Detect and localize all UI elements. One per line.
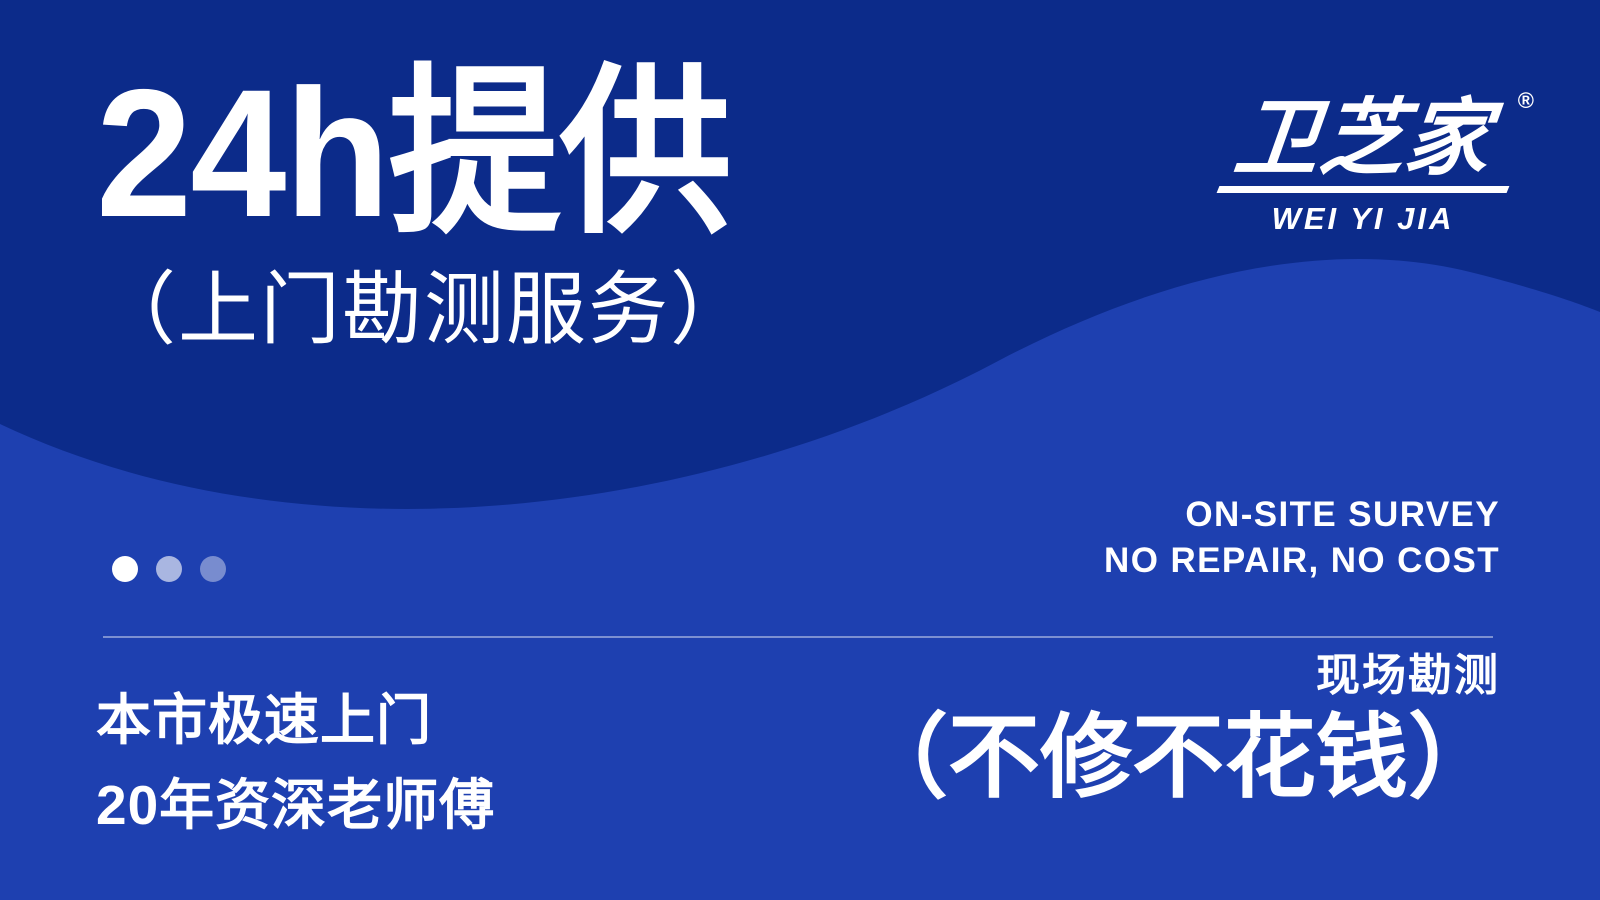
logo-mark: 卫芝家 ® <box>1218 96 1508 193</box>
english-tagline: ON-SITE SURVEY NO REPAIR, NO COST <box>1104 492 1500 584</box>
registered-trademark-icon: ® <box>1518 90 1534 112</box>
logo-pinyin: WEI YI JIA <box>1218 203 1508 234</box>
logo-underline-rule <box>1217 186 1510 193</box>
bottom-right-copy: 现场勘测 （不修不花钱） <box>856 652 1500 807</box>
brand-logo: 卫芝家 ® WEI YI JIA <box>1218 96 1508 234</box>
promo-banner: 24h提供 （上门勘测服务） 卫芝家 ® WEI YI JIA ON-SITE … <box>0 0 1600 900</box>
bottom-left-copy: 本市极速上门 20年资深老师傅 <box>96 678 495 849</box>
headline-block: 24h提供 （上门勘测服务） <box>96 62 764 352</box>
tagline-line-2: NO REPAIR, NO COST <box>1104 538 1500 584</box>
logo-chinese-name: 卫芝家 <box>1214 96 1513 180</box>
bottom-left-line-2: 20年资深老师傅 <box>96 763 495 848</box>
decorative-dots <box>112 556 226 582</box>
tagline-line-1: ON-SITE SURVEY <box>1104 492 1500 538</box>
bottom-right-headline: （不修不花钱） <box>856 710 1500 807</box>
bottom-left-line-1: 本市极速上门 <box>96 678 495 763</box>
bottom-right-label: 现场勘测 <box>856 652 1500 700</box>
dot-mid-icon <box>156 556 182 582</box>
dot-active-icon <box>112 556 138 582</box>
dot-dim-icon <box>200 556 226 582</box>
page-subtitle: （上门勘测服务） <box>96 268 764 352</box>
page-title: 24h提供 <box>96 62 730 244</box>
horizontal-divider <box>103 636 1493 638</box>
